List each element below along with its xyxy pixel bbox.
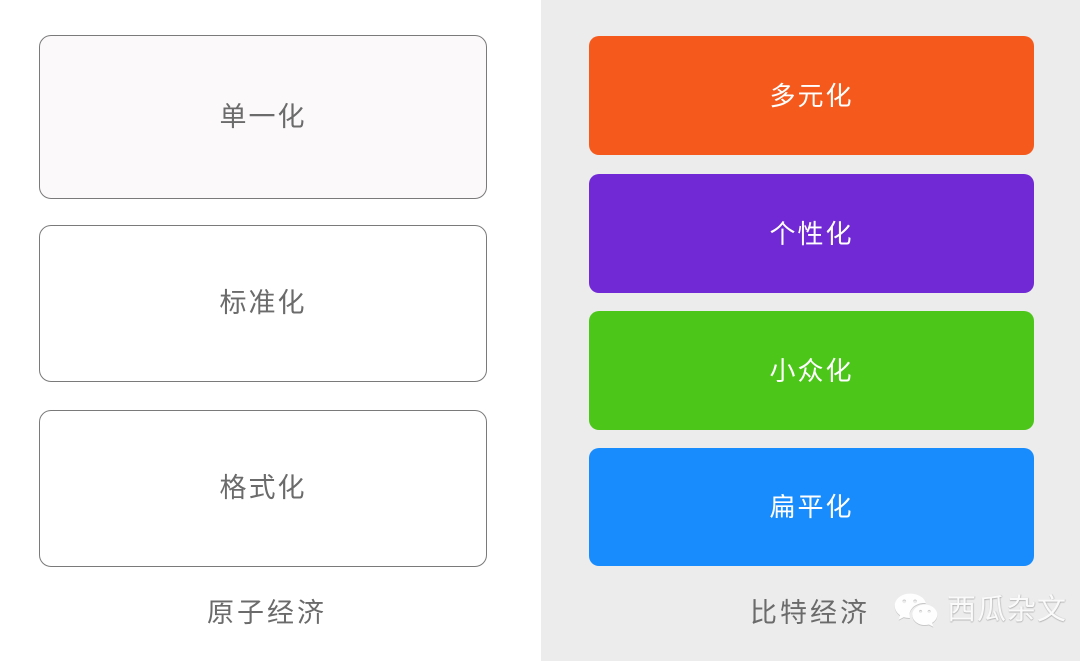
- card-label: 格式化: [220, 475, 307, 502]
- card-atom-2[interactable]: 标准化: [39, 225, 487, 382]
- card-atom-1[interactable]: 单一化: [39, 35, 487, 199]
- card-label: 扁平化: [769, 494, 853, 520]
- watermark: 西瓜杂文: [894, 592, 1067, 628]
- comparison-diagram: 单一化 标准化 格式化 原子经济 多元化 个性化 小众化 扁平化 比特经济: [0, 0, 1080, 661]
- card-label: 多元化: [769, 83, 853, 109]
- wechat-icon: [894, 592, 938, 628]
- bit-economy-caption: 比特经济: [750, 600, 870, 627]
- atom-economy-panel: 单一化 标准化 格式化 原子经济: [0, 0, 541, 661]
- card-bit-2[interactable]: 个性化: [589, 174, 1034, 293]
- atom-economy-caption: 原子经济: [207, 600, 327, 627]
- card-label: 个性化: [769, 221, 853, 247]
- card-bit-4[interactable]: 扁平化: [589, 448, 1034, 566]
- card-label: 单一化: [220, 104, 307, 131]
- card-label: 标准化: [220, 290, 307, 317]
- card-bit-1[interactable]: 多元化: [589, 36, 1034, 155]
- bit-economy-panel: 多元化 个性化 小众化 扁平化 比特经济 西瓜杂文: [541, 0, 1080, 661]
- card-label: 小众化: [769, 358, 853, 384]
- card-bit-3[interactable]: 小众化: [589, 311, 1034, 430]
- card-atom-3[interactable]: 格式化: [39, 410, 487, 567]
- watermark-text: 西瓜杂文: [947, 596, 1067, 625]
